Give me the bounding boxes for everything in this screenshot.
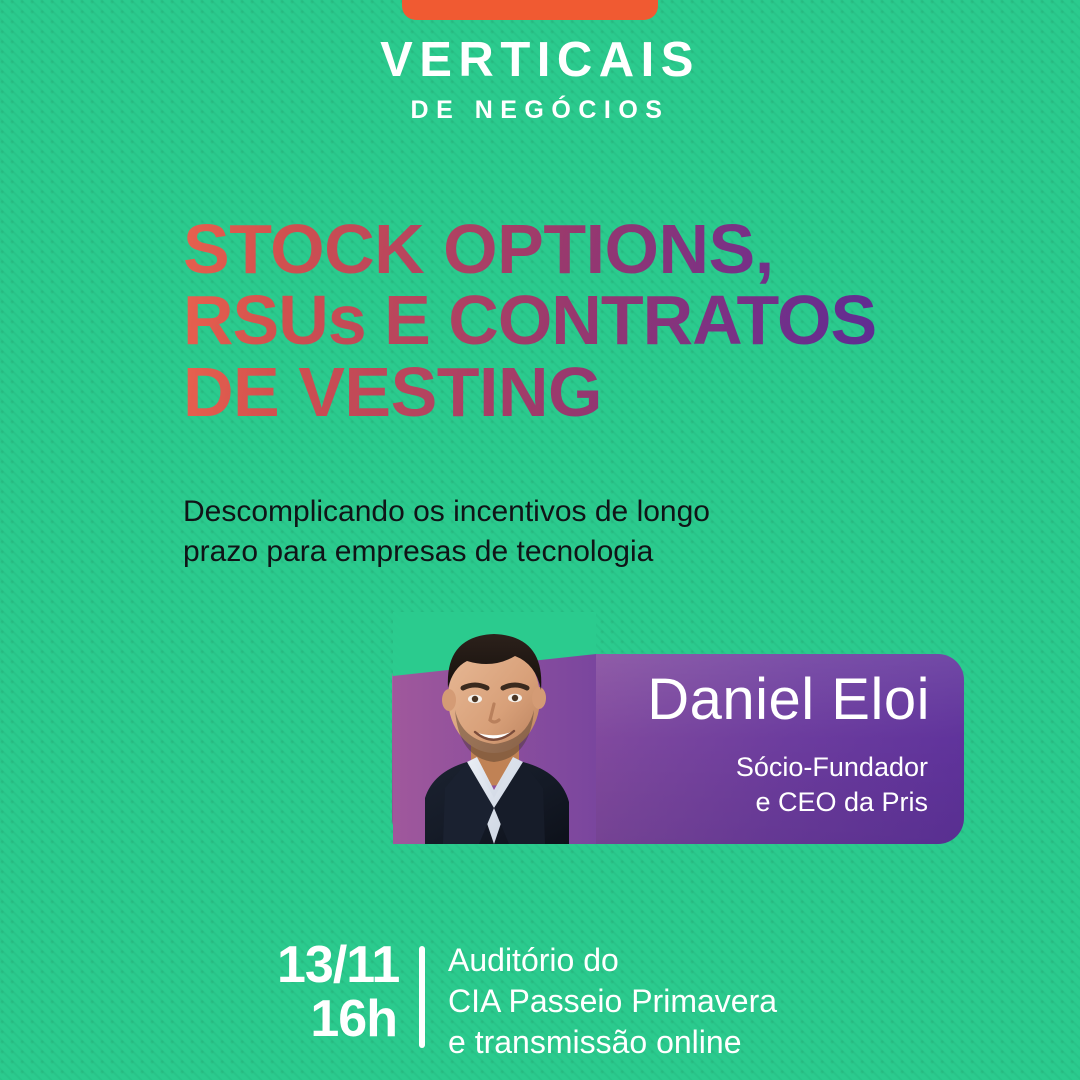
footer-divider bbox=[419, 946, 425, 1048]
venue-line-1: Auditório do bbox=[448, 940, 868, 981]
event-poster: VERTICAIS DE NEGÓCIOS STOCK OPTIONS, RSU… bbox=[0, 0, 1080, 1080]
speaker-role: Sócio-Fundador e CEO da Pris bbox=[736, 750, 928, 819]
venue-line-3: e transmissão online bbox=[448, 1022, 868, 1063]
speaker-role-line-2: e CEO da Pris bbox=[736, 785, 928, 820]
event-venue: Auditório do CIA Passeio Primavera e tra… bbox=[448, 940, 868, 1063]
page-title: STOCK OPTIONS, RSUs E CONTRATOS DE VESTI… bbox=[183, 214, 943, 428]
subtitle-line-1: Descomplicando os incentivos de longo bbox=[183, 492, 883, 532]
subtitle-line-2: prazo para empresas de tecnologia bbox=[183, 532, 883, 572]
speaker-role-line-1: Sócio-Fundador bbox=[736, 750, 928, 785]
venue-line-2: CIA Passeio Primavera bbox=[448, 981, 868, 1022]
event-datetime: 13/11 16h bbox=[277, 938, 397, 1046]
brand-logo: VERTICAIS DE NEGÓCIOS bbox=[0, 36, 1080, 123]
title-line-2: RSUs E CONTRATOS bbox=[183, 285, 943, 356]
speaker-info: Daniel Eloi Sócio-Fundador e CEO da Pris bbox=[392, 654, 964, 844]
title-line-1: STOCK OPTIONS, bbox=[183, 214, 943, 285]
subtitle: Descomplicando os incentivos de longo pr… bbox=[183, 492, 883, 571]
event-date: 13/11 bbox=[277, 938, 397, 992]
event-time: 16h bbox=[277, 992, 397, 1046]
speaker-name: Daniel Eloi bbox=[647, 666, 930, 733]
title-line-3: DE VESTING bbox=[183, 357, 943, 428]
brand-name: VERTICAIS bbox=[0, 36, 1080, 85]
brand-tagline: DE NEGÓCIOS bbox=[0, 98, 1080, 123]
orange-accent-tab bbox=[402, 0, 658, 20]
